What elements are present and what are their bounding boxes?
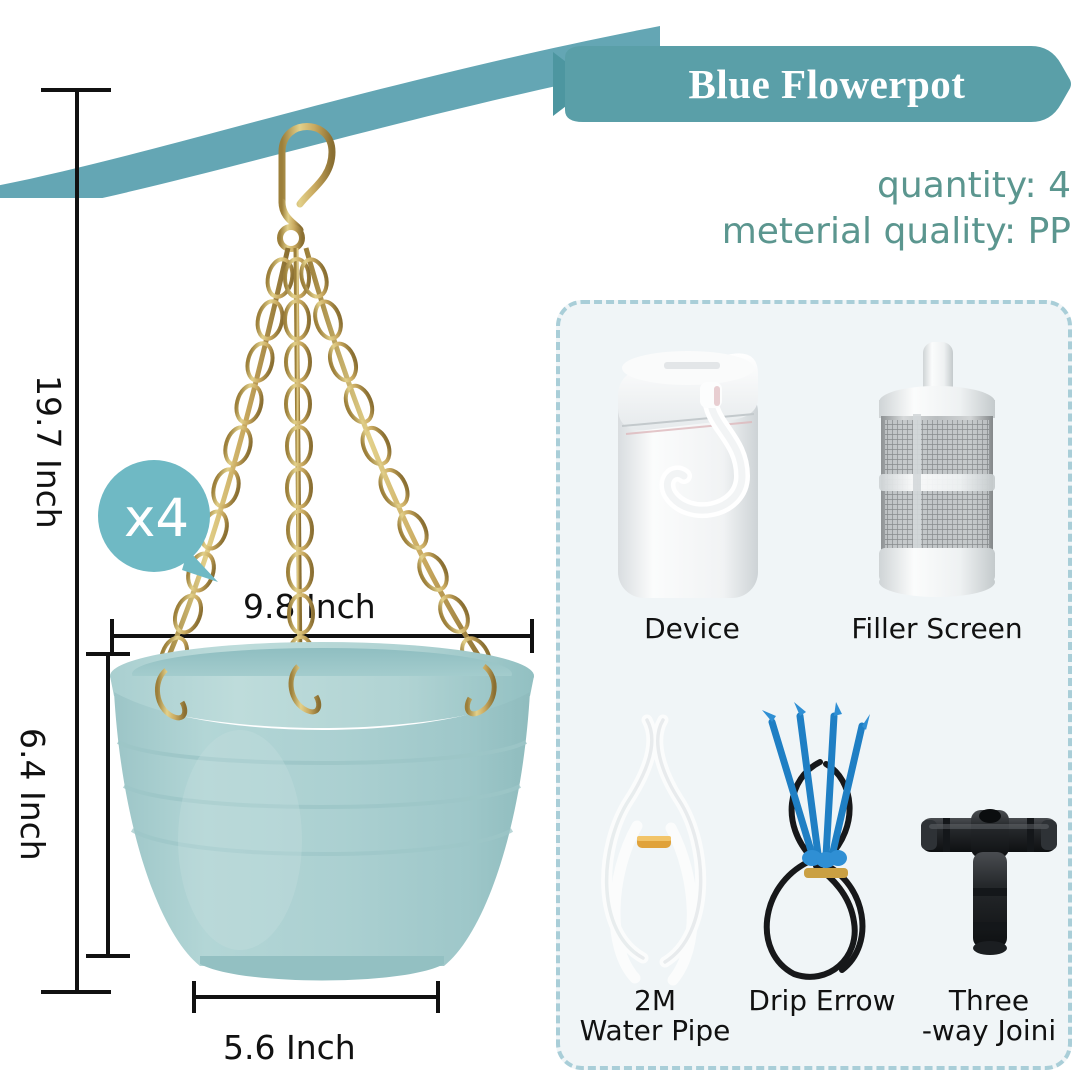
flowerpot-body <box>110 642 534 981</box>
accessory-three-way-joint: Three -way Joini <box>904 776 1074 1046</box>
accessory-device-label: Device <box>644 614 740 644</box>
spec-material: meterial quality: PP <box>531 209 1071 255</box>
dim-label-overall-height: 19.7 Inch <box>29 375 68 529</box>
dim-label-base-width: 5.6 Inch <box>223 1028 356 1067</box>
three-way-joint-icon <box>909 776 1069 986</box>
water-pipe-icon <box>585 696 725 986</box>
device-icon <box>602 334 782 614</box>
accessory-water-pipe: 2M Water Pipe <box>570 696 740 1046</box>
accessory-water-pipe-label: 2M Water Pipe <box>580 986 731 1046</box>
quantity-badge-label: x4 <box>96 458 221 583</box>
accessory-device: Device <box>582 334 802 644</box>
drip-arrow-icon <box>742 686 902 986</box>
accessory-drip-arrow-label: Drip Errow <box>748 986 895 1016</box>
product-title: Blue Flowerpot <box>553 42 1073 126</box>
dim-label-pot-height: 6.4 Inch <box>13 728 52 861</box>
accessory-drip-arrow: Drip Errow <box>732 686 912 1016</box>
title-ribbon: Blue Flowerpot <box>553 42 1073 126</box>
s-hook <box>282 127 332 231</box>
chain-center <box>285 248 313 675</box>
accessory-three-way-joint-label: Three -way Joini <box>922 986 1056 1046</box>
filler-screen-icon <box>847 334 1027 614</box>
product-infographic: 19.7 Inch 6.4 Inch 9.8 Inch 5.6 Inch <box>0 0 1089 1090</box>
quantity-badge: x4 <box>96 458 221 583</box>
accessory-filler-screen: Filler Screen <box>822 334 1052 644</box>
accessory-filler-screen-label: Filler Screen <box>851 614 1022 644</box>
chain-right <box>297 248 495 678</box>
spec-quantity: quantity: 4 <box>531 163 1071 209</box>
specifications: quantity: 4 meterial quality: PP <box>531 163 1071 255</box>
dim-line-overall-height <box>75 88 79 994</box>
accessories-panel: Device <box>556 300 1072 1070</box>
